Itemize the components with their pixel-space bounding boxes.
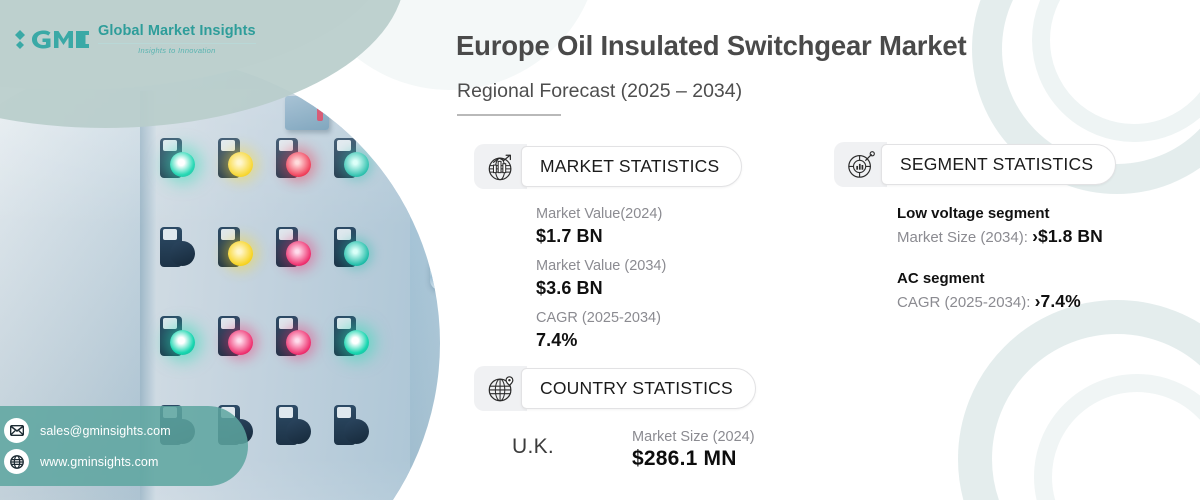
country-metric-label: Market Size (2024) (632, 429, 755, 445)
globe-icon (4, 449, 29, 474)
brand-rule (98, 43, 256, 44)
market-statistics-rows: Market Value(2024) $1.7 BN Market Value … (536, 205, 742, 352)
globe-bar-chart-icon (474, 144, 527, 189)
market-row-label: Market Value(2024) (536, 205, 742, 224)
segment-group: Low voltage segment Market Size (2034): … (897, 205, 1116, 247)
segment-statistics-block: SEGMENT STATISTICS Low voltage segment M… (834, 142, 1116, 335)
segment-metric-value: ›7.4% (1035, 291, 1081, 311)
contact-email: sales@gminsights.com (40, 424, 171, 438)
market-row-label: Market Value (2034) (536, 257, 742, 276)
market-row-value: $1.7 BN (536, 224, 742, 248)
segment-group: AC segment CAGR (2025-2034): ›7.4% (897, 270, 1116, 312)
market-statistics-block: MARKET STATISTICS Market Value(2024) $1.… (474, 144, 742, 361)
page-title: Europe Oil Insulated Switchgear Market (456, 30, 1116, 62)
title-divider (457, 114, 561, 116)
segment-metric-label: Market Size (2034): (897, 229, 1032, 246)
segment-statistics-header: SEGMENT STATISTICS (834, 142, 1116, 187)
country-metric: Market Size (2024) $286.1 MN (632, 429, 755, 471)
country-statistics-block: COUNTRY STATISTICS U.K. Market Size (202… (474, 366, 756, 471)
country-metric-value: $286.1 MN (632, 447, 755, 471)
market-row: CAGR (2025-2034) 7.4% (536, 309, 742, 352)
donut-chart-arrow-icon (834, 142, 887, 187)
segment-metric: Market Size (2034): ›$1.8 BN (897, 226, 1116, 247)
segment-statistics-rows: Low voltage segment Market Size (2034): … (897, 205, 1116, 312)
market-row-label: CAGR (2025-2034) (536, 309, 742, 328)
brand-name: Global Market Insights (98, 24, 256, 39)
page-subtitle: Regional Forecast (2025 – 2034) (457, 80, 742, 103)
contact-website-row[interactable]: www.gminsights.com (4, 446, 238, 477)
market-statistics-header: MARKET STATISTICS (474, 144, 742, 189)
segment-metric-value: ›$1.8 BN (1032, 226, 1103, 246)
contact-website: www.gminsights.com (40, 455, 159, 469)
segment-metric: CAGR (2025-2034): ›7.4% (897, 291, 1116, 312)
country-statistics-header: COUNTRY STATISTICS (474, 366, 756, 411)
brand-logo[interactable]: Global Market Insights Insights to Innov… (14, 22, 256, 56)
segment-name: Low voltage segment (897, 205, 1116, 222)
country-statistics-body: U.K. Market Size (2024) $286.1 MN (512, 429, 756, 471)
gmi-logo-icon (14, 22, 90, 56)
content-area: Europe Oil Insulated Switchgear Market R… (452, 0, 1200, 500)
contact-email-row[interactable]: sales@gminsights.com (4, 415, 238, 446)
segment-name: AC segment (897, 270, 1116, 287)
market-row: Market Value(2024) $1.7 BN (536, 205, 742, 248)
market-statistics-title: MARKET STATISTICS (521, 146, 742, 187)
market-row-value: $3.6 BN (536, 276, 742, 300)
contact-panel: sales@gminsights.com www.gminsights.com (0, 406, 248, 486)
brand-tagline: Insights to Innovation (98, 47, 256, 55)
envelope-icon (4, 418, 29, 443)
segment-metric-label: CAGR (2025-2034): (897, 294, 1035, 311)
globe-pin-icon (474, 366, 527, 411)
country-name: U.K. (512, 429, 554, 459)
market-row: Market Value (2034) $3.6 BN (536, 257, 742, 300)
market-row-value: 7.4% (536, 328, 742, 352)
infographic-canvas: Global Market Insights Insights to Innov… (0, 0, 1200, 500)
segment-statistics-title: SEGMENT STATISTICS (881, 144, 1116, 185)
brand-logo-text: Global Market Insights Insights to Innov… (98, 24, 256, 54)
country-statistics-title: COUNTRY STATISTICS (521, 368, 756, 409)
